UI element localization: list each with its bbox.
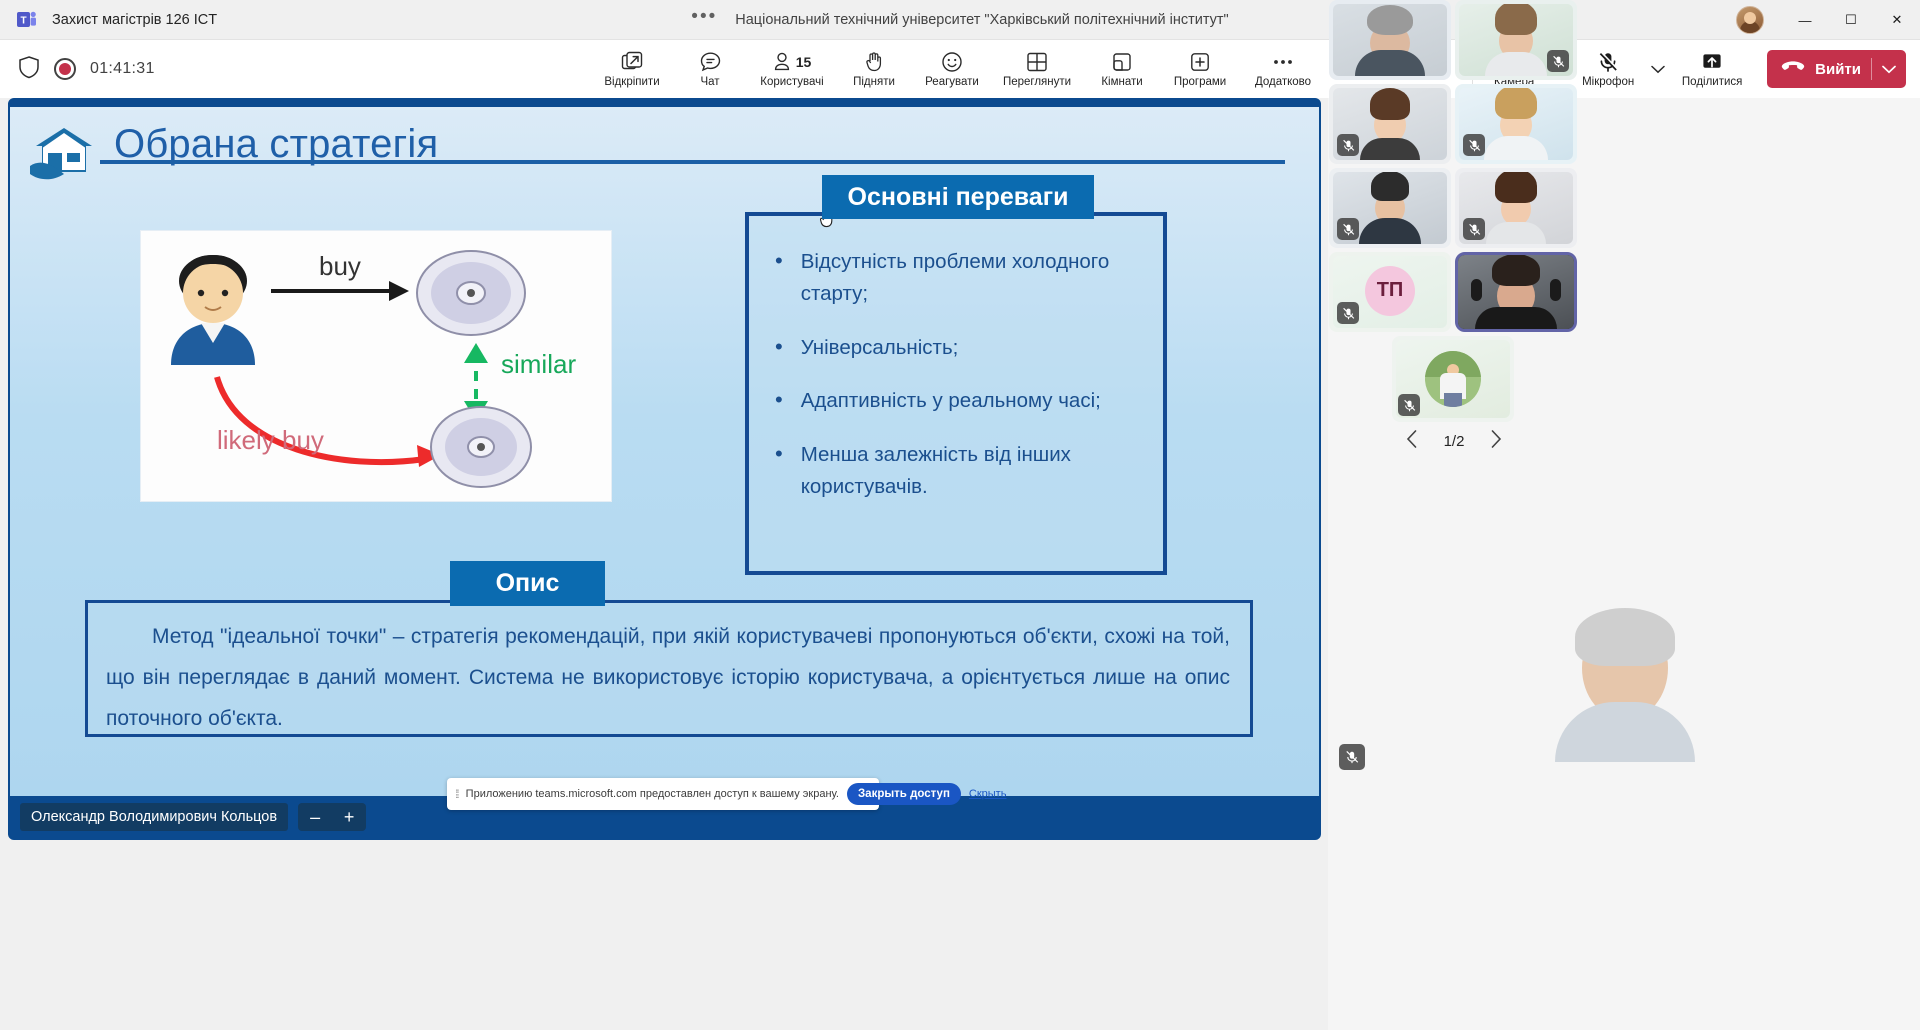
shield-icon [18,55,40,84]
slide-top-rule [10,104,1321,107]
participant-tile-active-speaker[interactable] [1455,252,1577,332]
raise-hand-label: Підняти [853,76,895,88]
view-button[interactable]: Переглянути [991,40,1083,98]
raise-hand-button[interactable]: Підняти [835,40,913,98]
mic-chevron-down-icon[interactable] [1647,40,1669,98]
raise-hand-icon [864,50,884,74]
list-item: • Універсальність; [775,332,1141,364]
organization-name: Національний технічний університет "Харк… [735,12,1228,28]
chevron-right-icon[interactable] [1490,430,1502,453]
react-button[interactable]: Реагувати [913,40,991,98]
participant-tile-grid: ТП [1329,0,1577,332]
avatar[interactable] [1736,6,1764,34]
svg-text:T: T [20,15,26,26]
list-item: • Менша залежність від інших користувачі… [775,439,1141,503]
meeting-title: Захист магістрів 126 ICT [52,12,217,28]
record-icon [54,58,76,80]
description-box: Метод "ідеальної точки" – стратегія реко… [85,600,1253,737]
unpin-label: Відкріпити [604,76,659,88]
mic-off-icon [1398,394,1420,416]
react-label: Реагувати [925,76,979,88]
participant-tile[interactable] [1455,84,1577,164]
mic-button[interactable]: Мікрофон [1569,40,1647,98]
bullet-icon: • [775,439,783,503]
advantage-text: Адаптивність у реальному часі; [801,385,1101,417]
teams-logo-icon: T [16,9,38,31]
house-logo-icon [28,122,102,184]
titlebar-center: ••• Національний технічний університет "… [691,12,1228,28]
mic-off-icon [1463,134,1485,156]
people-label: Користувачі [760,76,823,88]
participants-panel: ТП [1328,98,1920,1030]
participant-count: 15 [796,54,812,70]
leave-divider [1871,58,1872,80]
list-item: • Адаптивність у реальному часі; [775,385,1141,417]
participant-tile-initials[interactable]: ТП [1329,252,1451,332]
participant-tile[interactable] [1329,84,1451,164]
page-indicator: 1/2 [1444,433,1465,450]
avatar: ТП [1365,266,1415,316]
presenter-name: Олександр Володимирович Кольцов [20,803,288,831]
mic-off-icon [1463,218,1485,240]
zoom-in-button[interactable]: + [332,803,366,831]
unpin-open-icon [621,50,643,74]
chat-button[interactable]: Чат [671,40,749,98]
video-feed [1565,598,1685,738]
zoom-controls: – + [298,803,366,831]
share-label: Поділитися [1682,76,1742,88]
title-underline [100,160,1285,164]
presentation-slide: Обрана стратегія buy [10,104,1321,800]
leave-chevron-down-icon[interactable] [1882,61,1896,78]
share-message: Приложению teams.microsoft.com предостав… [466,788,839,800]
apps-label: Програми [1174,76,1226,88]
apps-button[interactable]: Програми [1161,40,1239,98]
more-options-icon[interactable]: ••• [691,12,717,28]
title-bar: T Захист магістрів 126 ICT ••• Національ… [0,0,1920,40]
participant-tile[interactable] [1392,336,1514,422]
leave-button[interactable]: Вийти [1767,50,1906,88]
video-feed [1458,255,1574,329]
participant-tile[interactable] [1329,168,1451,248]
zoom-out-button[interactable]: – [298,803,332,831]
chevron-left-icon[interactable] [1406,430,1418,453]
roster-pager: 1/2 [1329,430,1579,453]
toolbar-actions: Відкріпити Чат 15 Користувачі Підняти [593,40,1327,98]
share-screen-icon [1701,50,1723,74]
mic-label: Мікрофон [1582,76,1634,88]
toolbar-left: 01:41:31 [18,55,155,84]
video-feed [1333,4,1447,76]
minimize-button[interactable]: — [1782,0,1828,40]
drag-grip-icon[interactable]: ⁞⁞ [455,787,458,801]
screen-share-notification: ⁞⁞ Приложению teams.microsoft.com предос… [447,778,879,810]
shared-content-stage: Обрана стратегія buy [8,98,1321,840]
view-grid-icon [1026,50,1048,74]
people-button[interactable]: 15 Користувачі [749,40,835,98]
bullet-icon: • [775,246,783,310]
list-item: • Відсутність проблеми холодного старту; [775,246,1141,310]
advantages-box: • Відсутність проблеми холодного старту;… [745,212,1167,575]
advantage-text: Універсальність; [801,332,959,364]
avatar-initials: ТП [1377,279,1404,302]
participant-tile[interactable] [1455,168,1577,248]
share-button[interactable]: Поділитися [1669,40,1755,98]
rooms-button[interactable]: Кімнати [1083,40,1161,98]
more-dots-icon [1271,50,1295,74]
svg-text:similar: similar [501,349,576,379]
svg-text:buy: buy [319,251,361,281]
react-emoji-icon [941,50,963,74]
mic-off-icon [1337,218,1359,240]
mic-off-icon [1337,302,1359,324]
people-icon: 15 [773,50,812,74]
advantages-list: • Відсутність проблеми холодного старту;… [749,216,1163,503]
phone-hangup-icon [1781,58,1805,80]
hide-link[interactable]: Скрыть [969,788,1007,800]
description-heading: Опис [450,561,605,606]
svg-text:likely buy: likely buy [217,425,324,455]
self-view-tile[interactable] [1329,468,1920,1030]
mic-off-icon [1547,50,1569,72]
rooms-icon [1111,50,1133,74]
participant-tile[interactable] [1455,0,1577,80]
more-button[interactable]: Додатково [1239,40,1327,98]
advantage-text: Менша залежність від інших користувачів. [801,439,1141,503]
chat-icon [699,50,722,74]
stop-sharing-button[interactable]: Закрыть доступ [847,783,961,805]
recommendation-diagram: buy similar likely buy [140,230,612,502]
window-controls: — ☐ ✕ [1736,0,1920,40]
more-label: Додатково [1255,76,1311,88]
mic-off-icon [1339,744,1365,770]
mic-off-icon [1597,50,1619,74]
maximize-button[interactable]: ☐ [1828,0,1874,40]
advantages-heading: Основні переваги [822,175,1094,219]
bullet-icon: • [775,332,783,364]
participant-tile[interactable] [1329,0,1451,80]
advantage-text: Відсутність проблеми холодного старту; [801,246,1141,310]
view-label: Переглянути [1003,76,1071,88]
bullet-icon: • [775,385,783,417]
apps-plus-icon [1189,50,1211,74]
chat-label: Чат [700,76,719,88]
description-text: Метод "ідеальної точки" – стратегія реко… [106,617,1230,740]
meeting-toolbar: 01:41:31 Відкріпити Чат 15 Користувачі [0,40,1920,98]
rooms-label: Кімнати [1101,76,1142,88]
leave-label: Вийти [1815,61,1861,78]
meeting-timer: 01:41:31 [90,60,155,78]
mic-off-icon [1337,134,1359,156]
unpin-button[interactable]: Відкріпити [593,40,671,98]
close-button[interactable]: ✕ [1874,0,1920,40]
